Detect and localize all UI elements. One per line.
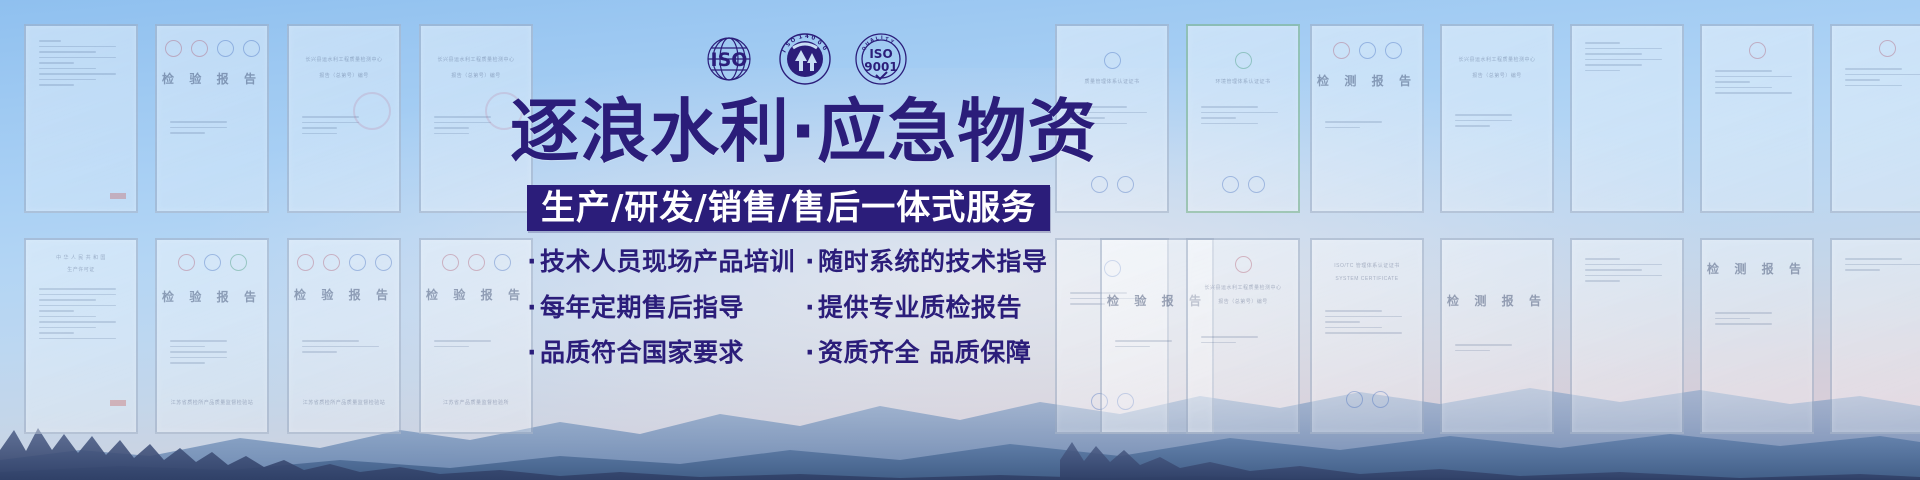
iso-14000-environment-icon: I S O 1 4 0 0 0 bbox=[777, 31, 833, 87]
feature-item: ·资质齐全 品质保障 bbox=[805, 339, 1067, 367]
certificate-item: 长兴县运水利工程质量检测中心 报告（总第号）编号 bbox=[1440, 24, 1554, 213]
certificate-subtitle: 环境管理体系认证证书 bbox=[1188, 78, 1298, 85]
svg-text:L: L bbox=[875, 35, 879, 42]
svg-text:4: 4 bbox=[805, 34, 809, 40]
certificate-title: 检 测 报 告 bbox=[1442, 292, 1552, 309]
certificate-item: 检 测 报 告 bbox=[1700, 238, 1814, 434]
certificate-item: 检 测 报 告 bbox=[1440, 238, 1554, 434]
feature-label: 提供专业质检报告 bbox=[818, 293, 1022, 322]
feature-label: 技术人员现场产品培训 bbox=[540, 247, 795, 276]
certificate-title: 检 测 报 告 bbox=[1312, 72, 1422, 89]
feature-item: ·每年定期售后指导 bbox=[527, 294, 805, 322]
certificate-title: 检 测 报 告 bbox=[1702, 260, 1812, 277]
iso-globe-icon: ISO bbox=[700, 31, 758, 87]
iso-9001-line2: 9001 bbox=[864, 60, 897, 74]
bullet-icon: · bbox=[805, 338, 815, 367]
certificate-item bbox=[1830, 24, 1920, 213]
certificate-item: 检 验 报 告 江苏省质检所产品质量监督检验站 bbox=[287, 238, 401, 434]
bullet-icon: · bbox=[805, 293, 815, 322]
certificate-item: 长兴县运水利工程质量检测中心 报告（总第号）编号 bbox=[287, 24, 401, 213]
certificate-subtitle: 长兴县运水利工程质量检测中心 bbox=[1442, 56, 1552, 63]
certificate-title: 检 验 报 告 bbox=[157, 70, 267, 87]
bullet-icon: · bbox=[527, 338, 537, 367]
feature-label: 品质符合国家要求 bbox=[540, 338, 744, 367]
feature-label: 资质齐全 品质保障 bbox=[818, 338, 1031, 367]
iso-badge-label: ISO bbox=[711, 49, 748, 71]
feature-item: ·提供专业质检报告 bbox=[805, 294, 1067, 322]
bullet-icon: · bbox=[527, 293, 537, 322]
certificate-title: 检 验 报 告 bbox=[157, 288, 267, 305]
subtitle-text: 生产/研发/销售/售后一体式服务 bbox=[541, 191, 1036, 225]
certificate-item bbox=[24, 24, 138, 213]
certificate-subtitle: 长兴县运水利工程质量检测中心 bbox=[421, 56, 531, 63]
bullet-icon: · bbox=[527, 247, 537, 276]
svg-text:I: I bbox=[782, 49, 788, 54]
page-title: 逐浪水利·应急物资 bbox=[510, 98, 1097, 167]
certificate-grid: 检 验 报 告 长兴县运水利工程质量检测中心 报告（总第号）编号 长兴县运水利工… bbox=[0, 0, 1920, 480]
feature-list: ·技术人员现场产品培训 ·随时系统的技术指导 ·每年定期售后指导 ·提供专业质检… bbox=[527, 248, 1067, 367]
feature-item: ·品质符合国家要求 bbox=[527, 339, 805, 367]
certificate-subtitle: 长兴县运水利工程质量检测中心 bbox=[1188, 284, 1298, 291]
subtitle-bar: 生产/研发/销售/售后一体式服务 bbox=[527, 185, 1050, 231]
svg-text:Y: Y bbox=[888, 38, 895, 46]
bullet-icon: · bbox=[805, 247, 815, 276]
certificate-title: 检 验 报 告 bbox=[289, 286, 399, 303]
feature-label: 每年定期售后指导 bbox=[540, 293, 744, 322]
certificate-item: ISO/TC 管理体系认证证书 SYSTEM CERTIFICATE bbox=[1310, 238, 1424, 434]
promo-banner: 检 验 报 告 长兴县运水利工程质量检测中心 报告（总第号）编号 长兴县运水利工… bbox=[0, 0, 1920, 480]
feature-label: 随时系统的技术指导 bbox=[818, 247, 1048, 276]
certificate-item: 中 华 人 民 共 和 国 生产许可证 bbox=[24, 238, 138, 434]
iso-9001-line1: ISO bbox=[869, 47, 892, 61]
certificate-item: 检 验 报 告 bbox=[155, 24, 269, 213]
certificate-item bbox=[1700, 24, 1814, 213]
certificate-item: 长兴县运水利工程质量检测中心 报告（总第号）编号 bbox=[1186, 238, 1300, 434]
certificate-item: 检 验 报 告 江苏省产品质量监督检验所 bbox=[419, 238, 533, 434]
svg-text:0: 0 bbox=[810, 35, 815, 42]
certificate-subtitle: 质量管理体系认证证书 bbox=[1057, 78, 1167, 85]
iso-9001-quality-icon: ISO 9001 Q U A L I T Y bbox=[852, 31, 910, 87]
svg-text:1: 1 bbox=[798, 34, 803, 41]
certificate-item: 检 测 报 告 bbox=[1310, 24, 1424, 213]
certificate-item: 检 验 报 告 江苏省质检所产品质量监督检验站 bbox=[155, 238, 269, 434]
svg-text:0: 0 bbox=[821, 45, 828, 52]
iso-badge-row: ISO I S O 1 4 0 0 0 bbox=[700, 30, 910, 88]
certificate-item: 环境管理体系认证证书 bbox=[1186, 24, 1300, 213]
feature-item: ·技术人员现场产品培训 bbox=[527, 248, 805, 276]
certificate-item bbox=[1570, 238, 1684, 434]
certificate-item bbox=[1830, 238, 1920, 434]
certificate-title: 检 验 报 告 bbox=[421, 286, 531, 303]
feature-item: ·随时系统的技术指导 bbox=[805, 248, 1067, 276]
certificate-subtitle: 长兴县运水利工程质量检测中心 bbox=[289, 56, 399, 63]
certificate-item bbox=[1570, 24, 1684, 213]
